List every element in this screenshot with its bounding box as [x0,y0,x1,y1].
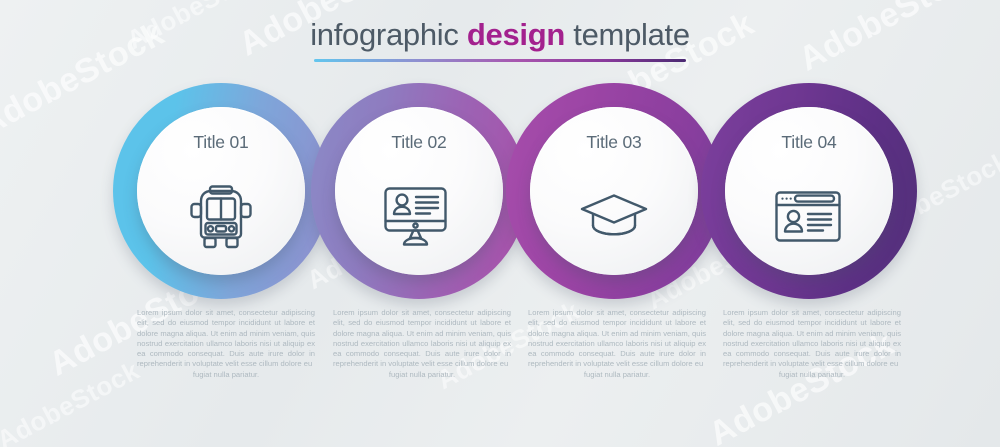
description-last-line: fugiat nulla pariatur. [528,370,706,380]
page-title: infographic design template [310,18,690,52]
school-bus-icon [137,159,305,275]
card-description-4: Lorem ipsum dolor sit amet, consectetur … [723,308,901,380]
browser-id-card-icon [725,159,893,275]
card-title-2: Title 02 [391,132,446,153]
graduation-cap-icon [530,159,698,275]
card-title-3: Title 03 [586,132,641,153]
card-inner-circle-3: Title 03 [530,107,698,275]
card-description-2: Lorem ipsum dolor sit amet, consectetur … [333,308,511,380]
card-title-1: Title 01 [193,132,248,153]
infographic-card-1[interactable]: Title 01 [113,83,329,299]
card-inner-circle-2: Title 02 [335,107,503,275]
card-inner-circle-1: Title 01 [137,107,305,275]
description-last-line: fugiat nulla pariatur. [333,370,511,380]
infographic-cards-row: Title 01 [0,83,1000,303]
card-description-1: Lorem ipsum dolor sit amet, consectetur … [137,308,315,380]
header: infographic design template [0,18,1000,62]
card-inner-circle-4: Title 04 [725,107,893,275]
infographic-card-4[interactable]: Title 04 [701,83,917,299]
description-body: Lorem ipsum dolor sit amet, consectetur … [333,308,511,368]
card-title-4: Title 04 [781,132,836,153]
monitor-user-profile-icon [335,159,503,275]
title-emphasis: design [467,17,565,52]
title-suffix: template [565,17,690,52]
infographic-card-2[interactable]: Title 02 [311,83,527,299]
description-last-line: fugiat nulla pariatur. [723,370,901,380]
title-underline-rule [314,59,686,62]
infographic-card-3[interactable]: Title 03 [506,83,722,299]
description-body: Lorem ipsum dolor sit amet, consectetur … [137,308,315,368]
description-body: Lorem ipsum dolor sit amet, consectetur … [723,308,901,368]
title-prefix: infographic [310,17,467,52]
card-description-3: Lorem ipsum dolor sit amet, consectetur … [528,308,706,380]
description-body: Lorem ipsum dolor sit amet, consectetur … [528,308,706,368]
description-last-line: fugiat nulla pariatur. [137,370,315,380]
